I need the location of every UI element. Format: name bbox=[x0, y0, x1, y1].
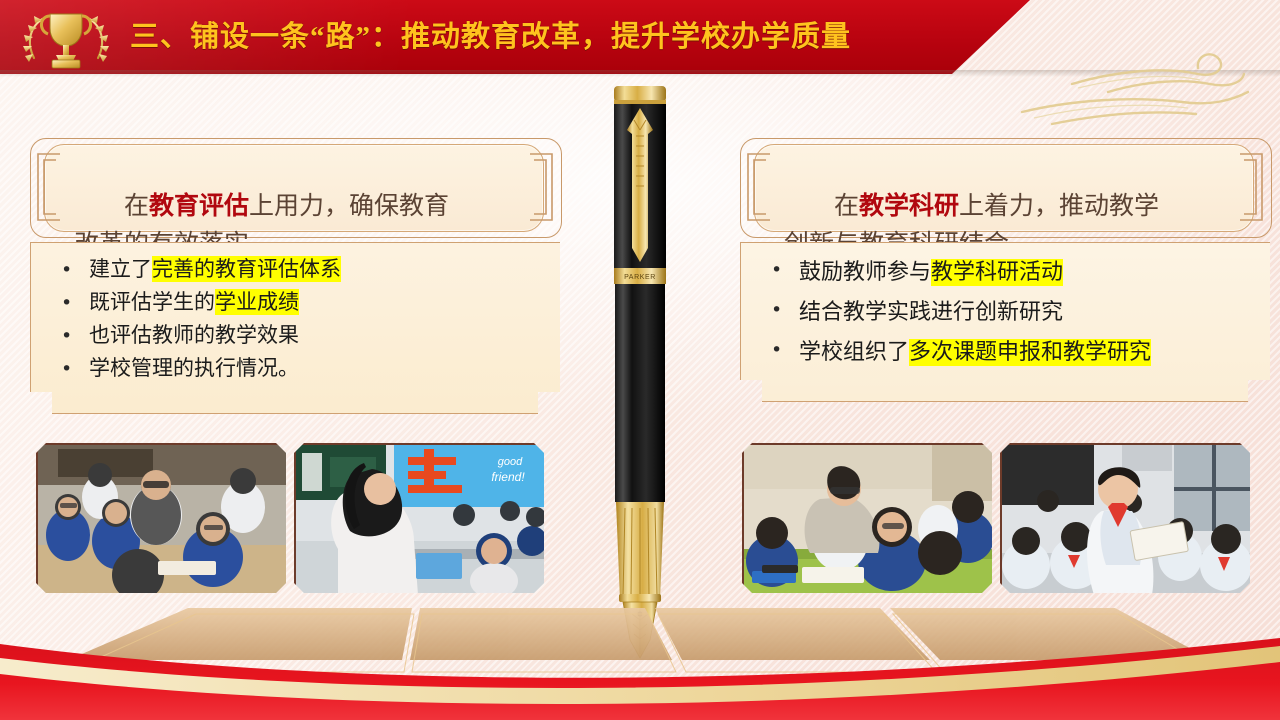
bullet-marker: • bbox=[61, 319, 72, 353]
bullet-marker: • bbox=[771, 253, 782, 287]
plaque-right-emphasis: 教学科研 bbox=[859, 193, 959, 220]
plaque-right-text: 在教学科研上着力，推动教学 创新与教育科研结合 bbox=[784, 150, 1236, 226]
bullet-text-plain: 建立了 bbox=[89, 257, 152, 281]
photo-row-right bbox=[742, 443, 1272, 593]
trophy-icon bbox=[14, 4, 118, 72]
bullet-text-plain: 学校组织了 bbox=[799, 340, 909, 365]
list-item: • 鼓励教师参与教学科研活动 bbox=[741, 253, 1271, 293]
plaque-right-prefix: 在 bbox=[834, 193, 859, 220]
bullet-text-plain: 也评估教师的教学效果 bbox=[89, 323, 299, 347]
ornament-bracket-left-icon bbox=[32, 152, 62, 222]
bullet-marker: • bbox=[771, 293, 782, 327]
list-item: • 既评估学生的学业成绩 bbox=[31, 286, 561, 319]
classroom-photo-student-reading bbox=[1000, 443, 1254, 597]
slide-canvas: 三、铺设一条“路”：推动教育改革，提升学校办学质量 bbox=[0, 0, 1280, 720]
bullet-panel-left: • 建立了完善的教育评估体系 • 既评估学生的学业成绩 • 也评估教师的教学效果… bbox=[30, 242, 562, 414]
photo-row-left: good friend! bbox=[36, 443, 566, 593]
bullet-text-plain: 既评估学生的 bbox=[89, 290, 215, 314]
fountain-pen-icon: PARKER bbox=[592, 80, 688, 670]
bullet-marker: • bbox=[61, 253, 72, 287]
ornament-bracket-right-icon bbox=[1238, 152, 1268, 222]
list-item: • 结合教学实践进行创新研究 bbox=[741, 293, 1271, 333]
bullet-text-plain: 结合教学实践进行创新研究 bbox=[799, 300, 1063, 325]
plaque-right: 在教学科研上着力，推动教学 创新与教育科研结合 bbox=[740, 138, 1270, 236]
classroom-photo-teacher-with-students bbox=[36, 443, 290, 597]
bullet-marker: • bbox=[61, 286, 72, 320]
column-left: 在教育评估上用力，确保教育 改革的有效落实 • 建立了完善的教育评估体系 • 既… bbox=[30, 138, 560, 414]
bullet-text-plain: 鼓励教师参与 bbox=[799, 260, 931, 285]
page-title: 三、铺设一条“路”：推动教育改革，提升学校办学质量 bbox=[130, 14, 960, 60]
classroom-photo-teacher-tutoring bbox=[742, 443, 996, 597]
bullet-text-highlight: 完善的教育评估体系 bbox=[152, 256, 341, 282]
classroom-photo-teacher-helping-student: good friend! bbox=[294, 443, 548, 597]
bullet-list-right: • 鼓励教师参与教学科研活动 • 结合教学实践进行创新研究 • 学校组织了多次课… bbox=[741, 253, 1271, 373]
gold-cloud-swirl-icon bbox=[1012, 26, 1262, 146]
list-item: • 也评估教师的教学效果 bbox=[31, 319, 561, 352]
list-item: • 建立了完善的教育评估体系 bbox=[31, 253, 561, 286]
list-item: • 学校组织了多次课题申报和教学研究 bbox=[741, 333, 1271, 373]
plaque-left: 在教育评估上用力，确保教育 改革的有效落实 bbox=[30, 138, 560, 236]
bullet-text-plain: 学校管理的执行情况。 bbox=[89, 356, 299, 380]
plaque-left-text: 在教育评估上用力，确保教育 改革的有效落实 bbox=[74, 150, 526, 226]
svg-text:good: good bbox=[498, 456, 523, 468]
list-item: • 学校管理的执行情况。 bbox=[31, 352, 561, 385]
bullet-text-highlight: 学业成绩 bbox=[215, 289, 299, 315]
bottom-red-band bbox=[0, 600, 1280, 720]
bullet-text-highlight: 教学科研活动 bbox=[931, 259, 1063, 286]
ornament-bracket-right-icon bbox=[528, 152, 558, 222]
bullet-panel-right: • 鼓励教师参与教学科研活动 • 结合教学实践进行创新研究 • 学校组织了多次课… bbox=[740, 242, 1272, 402]
bullet-list-left: • 建立了完善的教育评估体系 • 既评估学生的学业成绩 • 也评估教师的教学效果… bbox=[31, 253, 561, 385]
svg-text:friend!: friend! bbox=[491, 470, 525, 484]
plaque-left-emphasis: 教育评估 bbox=[149, 193, 249, 220]
ornament-bracket-left-icon bbox=[742, 152, 772, 222]
svg-text:PARKER: PARKER bbox=[624, 274, 656, 281]
column-right: 在教学科研上着力，推动教学 创新与教育科研结合 • 鼓励教师参与教学科研活动 •… bbox=[740, 138, 1270, 402]
bullet-marker: • bbox=[61, 352, 72, 386]
plaque-left-prefix: 在 bbox=[124, 193, 149, 220]
slide-header: 三、铺设一条“路”：推动教育改革，提升学校办学质量 bbox=[0, 0, 1280, 74]
bullet-text-highlight: 多次课题申报和教学研究 bbox=[909, 339, 1151, 366]
bullet-marker: • bbox=[771, 333, 782, 367]
